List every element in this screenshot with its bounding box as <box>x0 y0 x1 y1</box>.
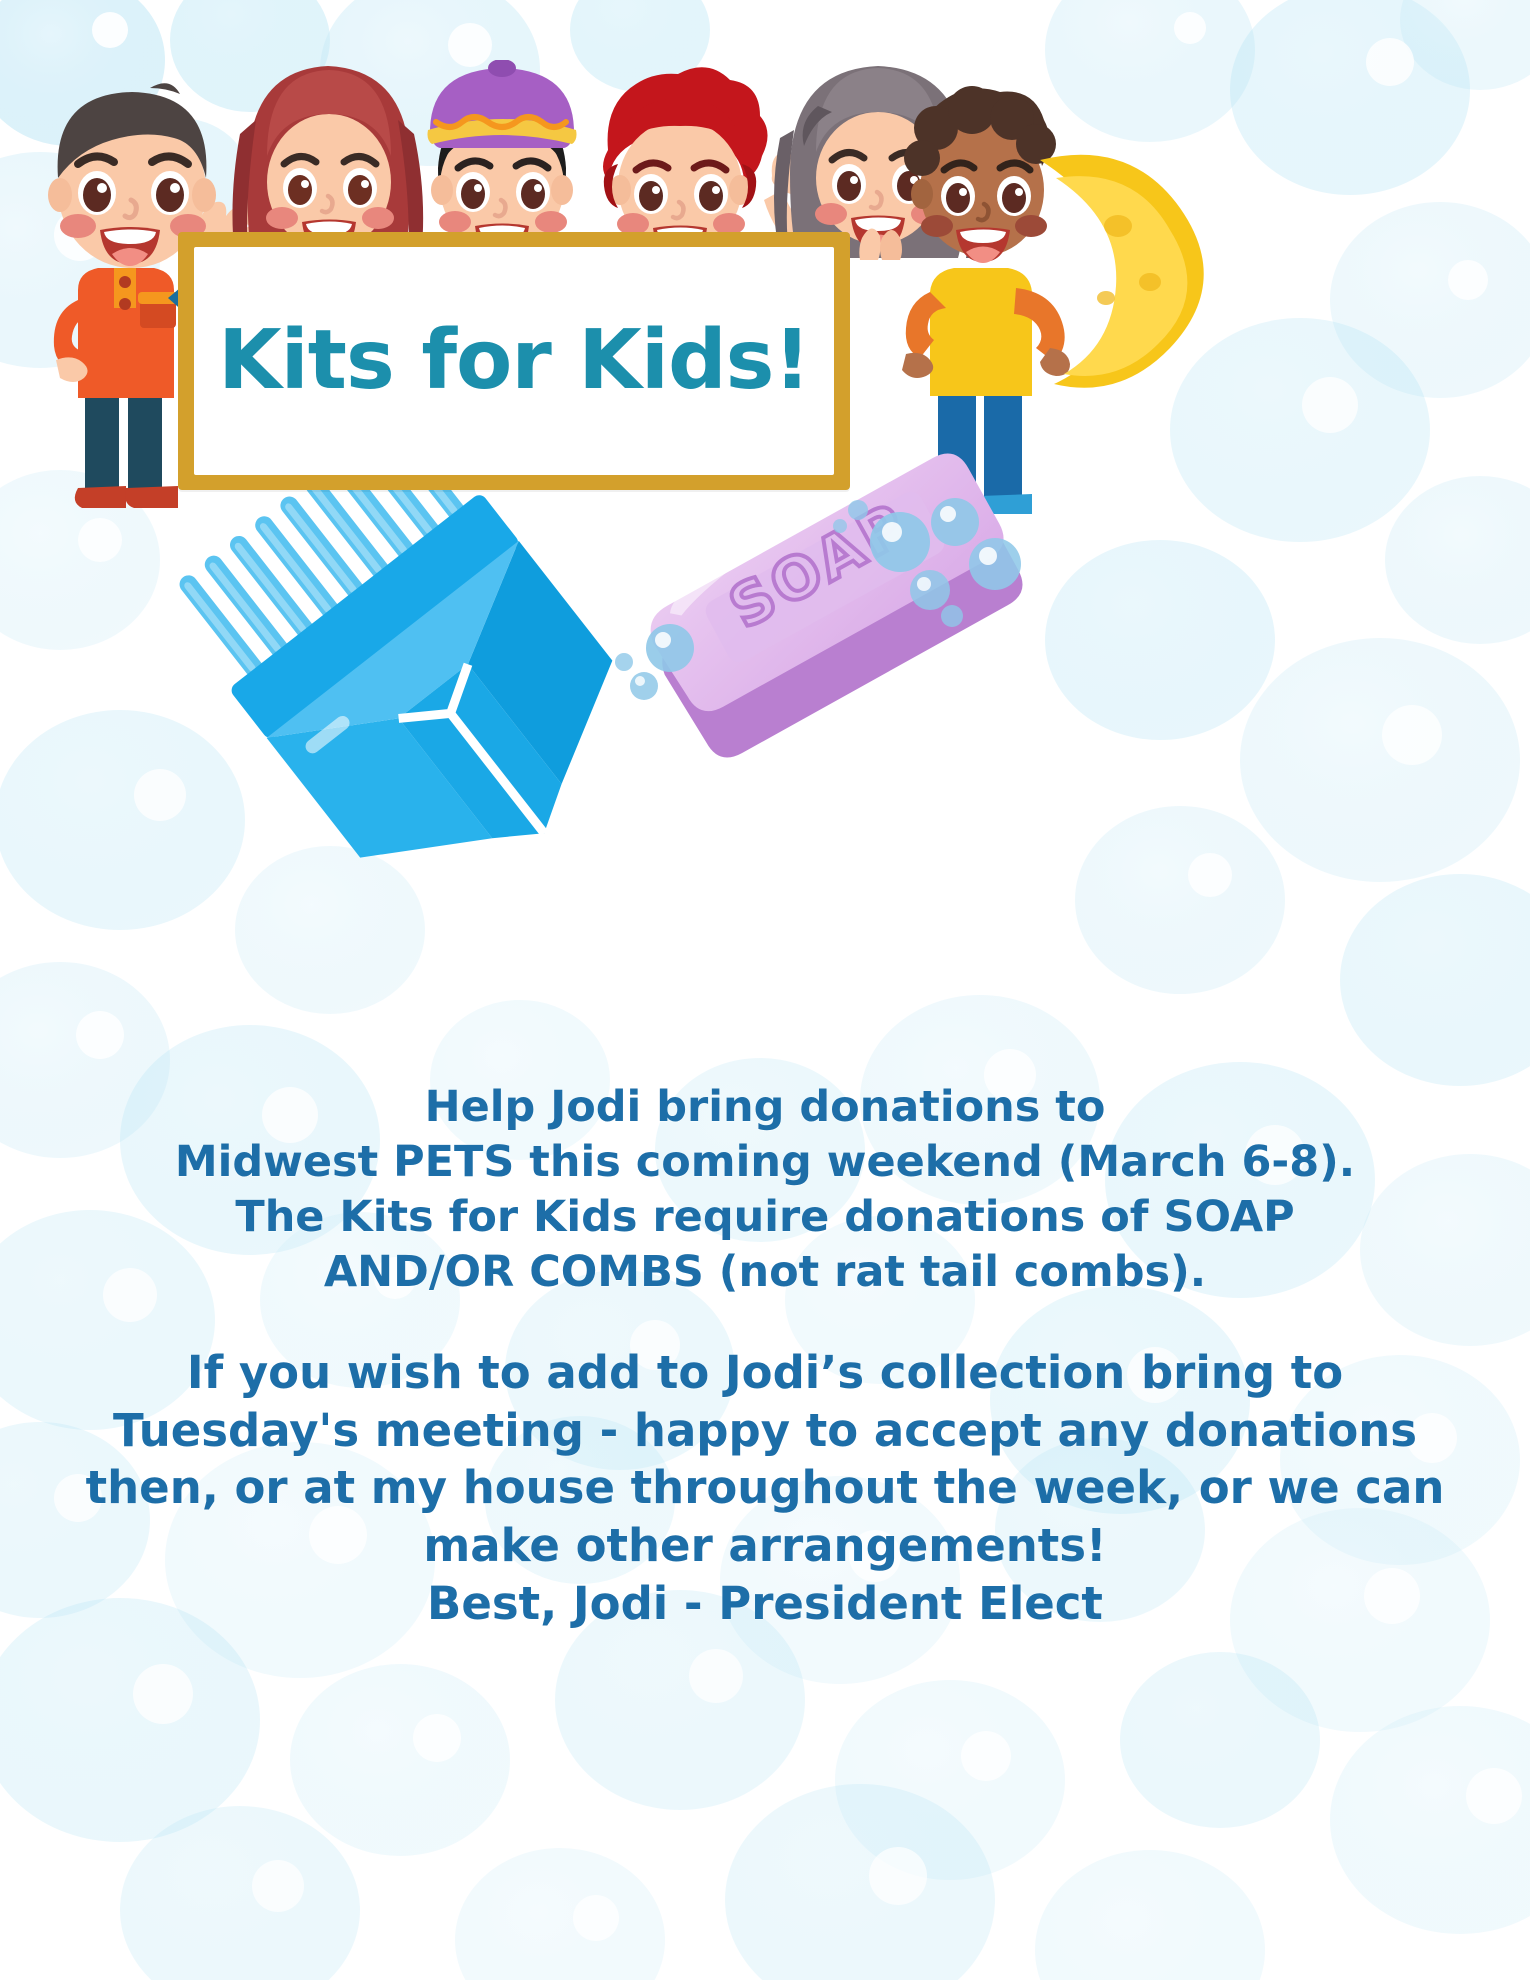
poster-canvas: Kits for Kids! <box>0 0 1530 1980</box>
paragraph-1: Help Jodi bring donations to Midwest PET… <box>60 1080 1470 1300</box>
p2-line-3: then, or at my house throughout the week… <box>60 1459 1470 1517</box>
paragraph-2: If you wish to add to Jodi’s collection … <box>60 1344 1470 1632</box>
p2-line-2: Tuesday's meeting - happy to accept any … <box>60 1402 1470 1460</box>
sign-board: Kits for Kids! <box>178 232 850 490</box>
p2-line-4: make other arrangements! <box>60 1517 1470 1575</box>
p1-line-3: The Kits for Kids require donations of S… <box>60 1190 1470 1245</box>
p1-line-2: Midwest PETS this coming weekend (March … <box>60 1135 1470 1190</box>
blue-comb-icon <box>150 420 670 890</box>
crescent-moon-icon <box>1040 155 1204 388</box>
p2-line-1: If you wish to add to Jodi’s collection … <box>60 1344 1470 1402</box>
signature-line: Best, Jodi - President Elect <box>60 1575 1470 1633</box>
p1-line-1: Help Jodi bring donations to <box>60 1080 1470 1135</box>
soap-bubbles-icon <box>600 470 1070 730</box>
page-title: Kits for Kids! <box>194 320 834 402</box>
paragraph-gap <box>60 1300 1470 1344</box>
body-copy: Help Jodi bring donations to Midwest PET… <box>60 1080 1470 1632</box>
p1-line-4: AND/OR COMBS (not rat tail combs). <box>60 1245 1470 1300</box>
sign-board-inner: Kits for Kids! <box>194 247 834 475</box>
